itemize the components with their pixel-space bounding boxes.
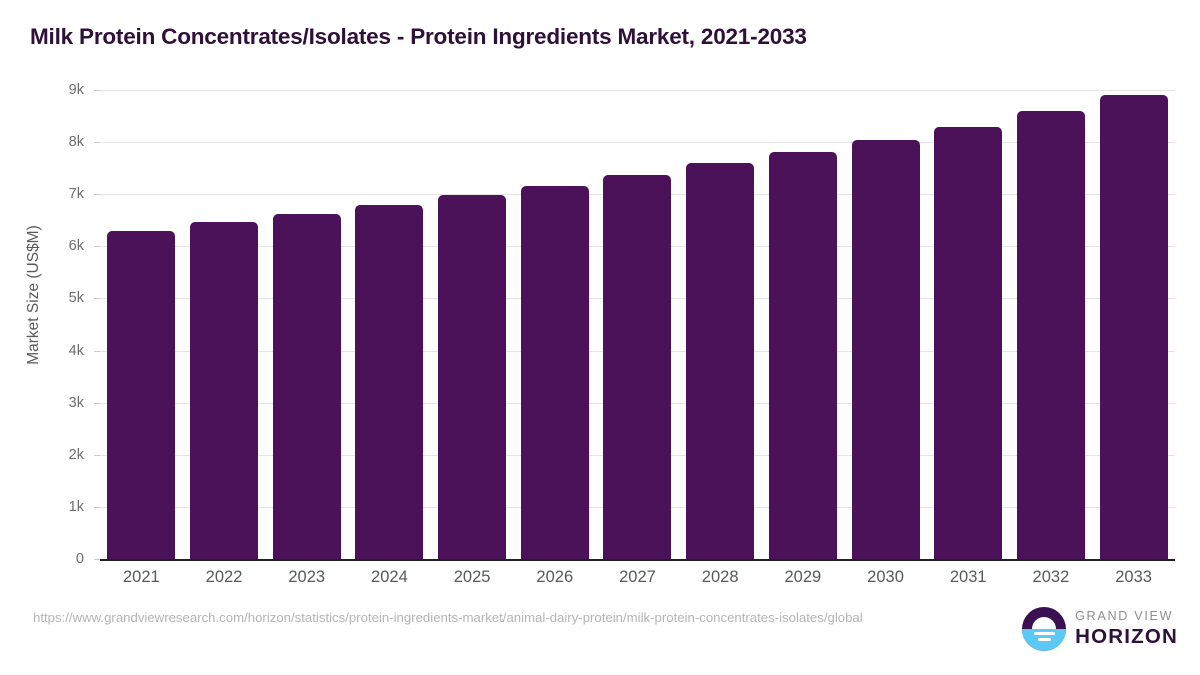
x-axis-tick-label: 2022 — [183, 568, 266, 587]
x-axis-tick-label: 2026 — [513, 568, 596, 587]
y-axis-tick-label: 4k — [69, 343, 84, 359]
chart-plot-area: Market Size (US$M) 01k2k3k4k5k6k7k8k9k 2… — [0, 90, 1200, 590]
x-axis-tick-label: 2031 — [927, 568, 1010, 587]
y-axis-tick-label: 0 — [76, 551, 84, 567]
chart-footer: https://www.grandviewresearch.com/horizo… — [0, 603, 1200, 675]
bar[interactable] — [355, 205, 423, 559]
y-axis-tick-labels: 01k2k3k4k5k6k7k8k9k — [0, 90, 100, 560]
bar-series — [100, 90, 1175, 559]
bar[interactable] — [190, 222, 258, 559]
bar[interactable] — [686, 163, 754, 559]
y-axis-tick-label: 5k — [69, 290, 84, 306]
bar-slot — [762, 90, 845, 559]
x-axis-tick-label: 2028 — [679, 568, 762, 587]
y-axis-tick-label: 6k — [69, 238, 84, 254]
x-axis-tick-labels: 2021202220232024202520262027202820292030… — [100, 568, 1175, 587]
logo-bottom-text: HORIZON — [1075, 627, 1178, 648]
bar[interactable] — [1017, 111, 1085, 559]
logo-line-lower — [1038, 638, 1051, 641]
x-axis-tick-label: 2021 — [100, 568, 183, 587]
bar-slot — [265, 90, 348, 559]
bar[interactable] — [107, 231, 175, 559]
bar-slot — [431, 90, 514, 559]
y-axis-tick-label: 3k — [69, 395, 84, 411]
bar-slot — [1010, 90, 1093, 559]
y-axis-tick-label: 2k — [69, 447, 84, 463]
x-axis-tick-label: 2030 — [844, 568, 927, 587]
bar[interactable] — [769, 152, 837, 560]
y-axis-tick-label: 8k — [69, 134, 84, 150]
bar[interactable] — [1100, 95, 1168, 559]
horizon-logo-icon — [1022, 607, 1066, 651]
bar-slot — [100, 90, 183, 559]
x-axis-tick-label: 2025 — [431, 568, 514, 587]
x-axis-tick-label: 2033 — [1092, 568, 1175, 587]
logo-dome-shape — [1032, 617, 1056, 629]
bar[interactable] — [934, 127, 1002, 559]
x-axis-tick-label: 2024 — [348, 568, 431, 587]
bar[interactable] — [603, 175, 671, 559]
x-axis-line — [100, 559, 1175, 561]
x-axis-tick-label: 2032 — [1010, 568, 1093, 587]
x-axis-tick-label: 2029 — [762, 568, 845, 587]
chart-page: Milk Protein Concentrates/Isolates - Pro… — [0, 0, 1200, 675]
bar-slot — [596, 90, 679, 559]
page-title: Milk Protein Concentrates/Isolates - Pro… — [30, 24, 807, 50]
bar-slot — [927, 90, 1010, 559]
x-axis-tick-label: 2027 — [596, 568, 679, 587]
bar[interactable] — [521, 186, 589, 559]
x-axis-tick-label: 2023 — [265, 568, 348, 587]
y-axis-tick-label: 9k — [69, 82, 84, 98]
y-axis-tick-label: 1k — [69, 499, 84, 515]
y-axis-tick-label: 7k — [69, 186, 84, 202]
bar-slot — [513, 90, 596, 559]
source-url[interactable]: https://www.grandviewresearch.com/horizo… — [33, 608, 923, 627]
bar-slot — [183, 90, 266, 559]
bar[interactable] — [852, 140, 920, 559]
bar-slot — [844, 90, 927, 559]
bar-slot — [1092, 90, 1175, 559]
bar-slot — [348, 90, 431, 559]
bar[interactable] — [438, 195, 506, 559]
bar[interactable] — [273, 214, 341, 559]
grand-view-horizon-logo[interactable]: GRAND VIEW HORIZON — [1022, 607, 1178, 651]
logo-line-upper — [1034, 632, 1055, 635]
bar-slot — [679, 90, 762, 559]
logo-wordmark: GRAND VIEW HORIZON — [1075, 610, 1178, 647]
logo-top-text: GRAND VIEW — [1075, 610, 1178, 623]
